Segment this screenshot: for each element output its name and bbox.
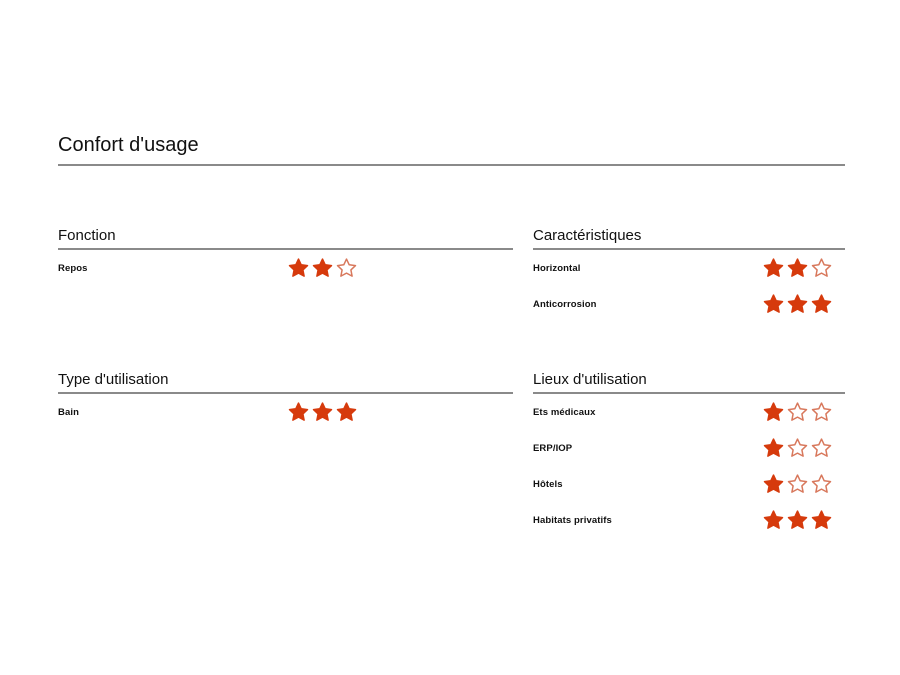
rating-stars <box>763 294 832 315</box>
star-icon <box>312 258 333 279</box>
star-icon <box>763 402 784 423</box>
rating-stars <box>288 258 357 279</box>
rating-label: Repos <box>58 263 88 274</box>
page-canvas: Confort d'usage FonctionReposCaractérist… <box>0 0 900 675</box>
section-title-lieux-utilisation: Lieux d'utilisation <box>533 370 845 389</box>
rating-label: Ets médicaux <box>533 407 595 418</box>
star-icon <box>787 510 808 531</box>
star-icon <box>787 402 808 423</box>
star-icon <box>312 402 333 423</box>
star-icon <box>811 294 832 315</box>
star-icon <box>336 402 357 423</box>
rating-stars <box>763 258 832 279</box>
section-type-utilisation: Type d'utilisationBain <box>58 370 513 430</box>
rating-label: Bain <box>58 407 79 418</box>
star-icon <box>787 438 808 459</box>
rating-list-fonction: Repos <box>58 250 513 286</box>
rating-stars <box>763 474 832 495</box>
star-icon <box>811 402 832 423</box>
rating-label: Horizontal <box>533 263 580 274</box>
section-caracteristiques: CaractéristiquesHorizontalAnticorrosion <box>533 226 845 322</box>
section-fonction: FonctionRepos <box>58 226 513 286</box>
page-title-block: Confort d'usage <box>58 132 845 166</box>
rating-label: Hôtels <box>533 479 563 490</box>
rating-label: Anticorrosion <box>533 299 597 310</box>
star-icon <box>763 474 784 495</box>
rating-row: Habitats privatifs <box>533 502 845 538</box>
rating-stars <box>763 510 832 531</box>
star-icon <box>787 474 808 495</box>
rating-row: Repos <box>58 250 513 286</box>
star-icon <box>787 258 808 279</box>
star-icon <box>811 438 832 459</box>
rating-list-type-utilisation: Bain <box>58 394 513 430</box>
star-icon <box>288 402 309 423</box>
page-title: Confort d'usage <box>58 132 845 158</box>
rating-label: Habitats privatifs <box>533 515 612 526</box>
rating-stars <box>763 438 832 459</box>
section-lieux-utilisation: Lieux d'utilisationEts médicauxERP/IOPHô… <box>533 370 845 538</box>
rating-row: ERP/IOP <box>533 430 845 466</box>
section-title-type-utilisation: Type d'utilisation <box>58 370 513 389</box>
rating-list-lieux-utilisation: Ets médicauxERP/IOPHôtelsHabitats privat… <box>533 394 845 538</box>
star-icon <box>336 258 357 279</box>
star-icon <box>763 510 784 531</box>
star-icon <box>763 438 784 459</box>
star-icon <box>811 510 832 531</box>
star-icon <box>763 294 784 315</box>
star-icon <box>787 294 808 315</box>
rating-row: Horizontal <box>533 250 845 286</box>
rating-row: Anticorrosion <box>533 286 845 322</box>
star-icon <box>811 474 832 495</box>
star-icon <box>288 258 309 279</box>
star-icon <box>811 258 832 279</box>
rating-list-caracteristiques: HorizontalAnticorrosion <box>533 250 845 322</box>
star-icon <box>763 258 784 279</box>
rating-row: Hôtels <box>533 466 845 502</box>
section-title-caracteristiques: Caractéristiques <box>533 226 845 245</box>
section-title-fonction: Fonction <box>58 226 513 245</box>
rating-label: ERP/IOP <box>533 443 572 454</box>
rating-stars <box>763 402 832 423</box>
rating-stars <box>288 402 357 423</box>
rating-row: Ets médicaux <box>533 394 845 430</box>
page-title-rule <box>58 164 845 166</box>
rating-row: Bain <box>58 394 513 430</box>
